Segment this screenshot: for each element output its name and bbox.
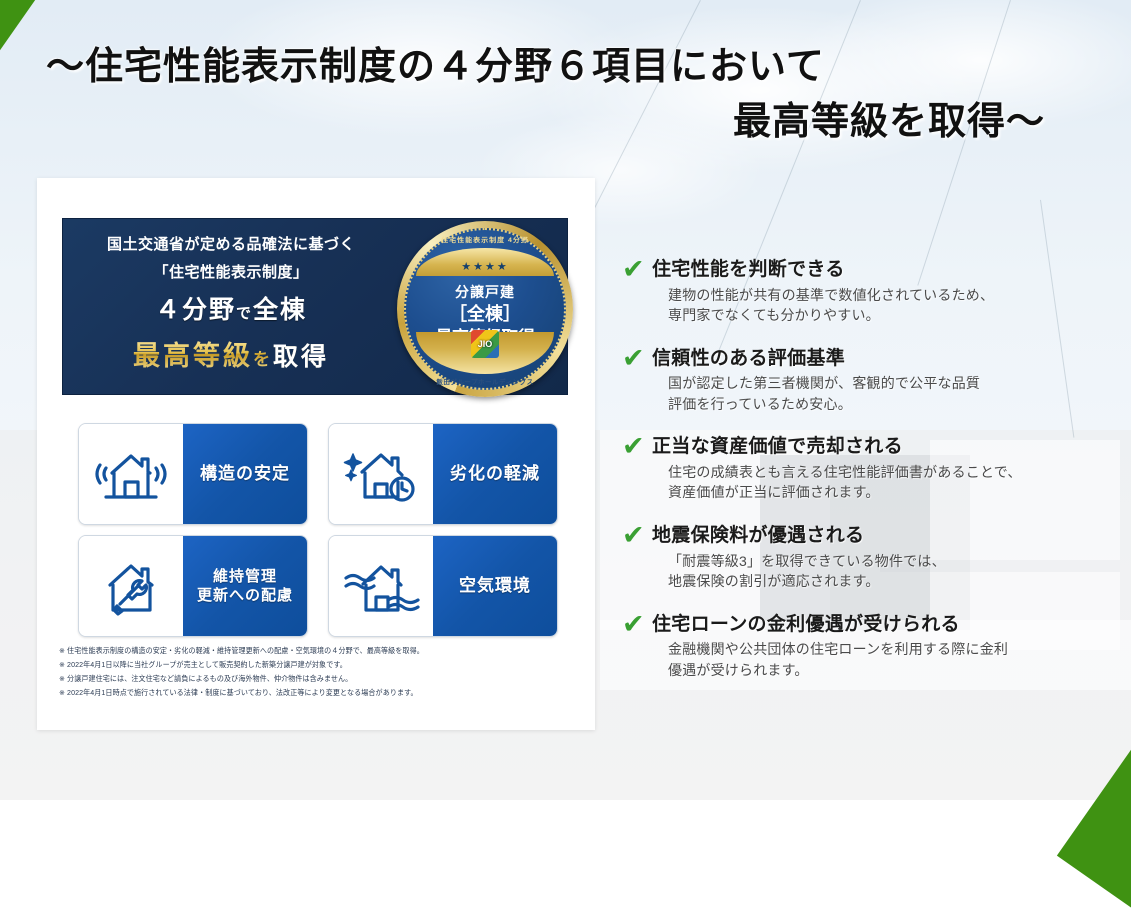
feature-label-air-environment: 空気環境 (433, 536, 557, 636)
title-line-1: 〜住宅性能表示制度の４分野６項目において (0, 42, 1100, 93)
seal-arc-top-text: 住宅性能表示制度 4分野 (406, 236, 564, 245)
feature-box-row-1: 構造の安定 劣化の軽減 (78, 423, 558, 525)
seal-top-gold-band: ★★★★ (416, 248, 554, 276)
benefit-desc-5-line-1: 金融機関や公共団体の住宅ローンを利用する際に金利 (668, 639, 1122, 659)
title-line-2: 最高等級を取得〜 (0, 97, 1100, 148)
banner-line-3-a: ４分野 (155, 296, 236, 324)
seal-line-1: 分譲戸建 (406, 282, 564, 302)
footnote-4: ※ 2022年4月1日時点で施行されている法律・制度に基づいており、法改正等によ… (59, 686, 569, 700)
benefit-desc-1-line-1: 建物の性能が共有の基準で数値化されているため、 (668, 285, 1122, 305)
feature-box-row-2: 維持管理 更新への配慮 空気環境 (78, 535, 558, 637)
feature-box-deterioration-reduction[interactable]: 劣化の軽減 (328, 423, 558, 525)
feature-label-structural-stability: 構造の安定 (183, 424, 307, 524)
seal-stars-icon: ★★★★ (461, 260, 508, 273)
feature-label-maintenance: 維持管理 更新への配慮 (183, 536, 307, 636)
benefit-desc-4: 「耐震等級3」を取得できている物件では、 地震保険の割引が適応されます。 (668, 551, 1122, 592)
feature-label-deterioration-reduction: 劣化の軽減 (433, 424, 557, 524)
banner-line-3-c: 全棟 (253, 296, 307, 324)
banner-line-3-b: で (236, 305, 253, 322)
benefit-title-2: 信頼性のある評価基準 (652, 347, 1122, 371)
feature-box-air-environment[interactable]: 空気環境 (328, 535, 558, 637)
seal-arc-bottom-text: 飯田グループホールディングス (406, 376, 564, 386)
benefit-desc-5-line-2: 優遇が受けられます。 (668, 660, 1122, 680)
footnote-1: ※ 住宅性能表示制度の構造の安定・劣化の軽減・維持管理更新への配慮・空気環境の４… (59, 644, 569, 658)
benefit-title-4: 地震保険料が優遇される (652, 524, 1122, 548)
benefits-list: ✔ 住宅性能を判断できる 建物の性能が共有の基準で数値化されているため、 専門家… (622, 258, 1122, 701)
banner-line-3: ４分野で全棟 (71, 290, 391, 326)
benefit-desc-3: 住宅の成績表とも言える住宅性能評価書があることで、 資産価値が正当に評価されます… (668, 462, 1122, 503)
benefit-desc-3-line-1: 住宅の成績表とも言える住宅性能評価書があることで、 (668, 462, 1122, 482)
benefit-desc-2: 国が認定した第三者機関が、客観的で公平な品質 評価を行っているため安心。 (668, 373, 1122, 414)
check-icon: ✔ (622, 345, 648, 371)
benefit-desc-4-line-1: 「耐震等級3」を取得できている物件では、 (668, 551, 1122, 571)
banner-line-4-a: 最高等級 (133, 341, 253, 371)
gold-seal-badge: 住宅性能表示制度 4分野 ★★★★ 分譲戸建 ［全棟］ 最高等級取得 JIO 飯… (397, 221, 573, 397)
banner-line-4-b: を (253, 350, 273, 369)
footnotes: ※ 住宅性能表示制度の構造の安定・劣化の軽減・維持管理更新への配慮・空気環境の４… (59, 644, 579, 700)
banner-line-4: 最高等級を取得 (71, 334, 391, 373)
check-icon: ✔ (622, 256, 648, 282)
page-title: 〜住宅性能表示制度の４分野６項目において 最高等級を取得〜 (0, 42, 1100, 149)
benefit-desc-1: 建物の性能が共有の基準で数値化されているため、 専門家でなくても分かりやすい。 (668, 285, 1122, 326)
navy-banner-text: 国土交通省が定める品確法に基づく 「住宅性能表示制度」 ４分野で全棟 最高等級を… (71, 233, 391, 373)
seal-inner: 住宅性能表示制度 4分野 ★★★★ 分譲戸建 ［全棟］ 最高等級取得 JIO 飯… (404, 228, 566, 390)
feature-box-maintenance[interactable]: 維持管理 更新への配慮 (78, 535, 308, 637)
house-tools-icon (79, 536, 183, 636)
certification-card: 国土交通省が定める品確法に基づく 「住宅性能表示制度」 ４分野で全棟 最高等級を… (37, 178, 595, 730)
jio-logo-icon: JIO (471, 330, 499, 358)
benefit-desc-4-line-2: 地震保険の割引が適応されます。 (668, 571, 1122, 591)
banner-line-1: 国土交通省が定める品確法に基づく (71, 233, 391, 254)
feature-label-maintenance-text: 維持管理 更新への配慮 (197, 567, 293, 605)
banner-line-2: 「住宅性能表示制度」 (71, 261, 391, 282)
benefit-title-1: 住宅性能を判断できる (652, 258, 1122, 282)
benefit-title-5: 住宅ローンの金利優遇が受けられる (652, 613, 1122, 637)
benefit-title-3: 正当な資産価値で売却される (652, 435, 1122, 459)
benefit-desc-2-line-1: 国が認定した第三者機関が、客観的で公平な品質 (668, 373, 1122, 393)
house-sparkle-clock-icon (329, 424, 433, 524)
benefit-item-1: ✔ 住宅性能を判断できる 建物の性能が共有の基準で数値化されているため、 専門家… (622, 258, 1122, 326)
check-icon: ✔ (622, 611, 648, 637)
benefit-item-4: ✔ 地震保険料が優遇される 「耐震等級3」を取得できている物件では、 地震保険の… (622, 524, 1122, 592)
navy-banner: 国土交通省が定める品確法に基づく 「住宅性能表示制度」 ４分野で全棟 最高等級を… (62, 218, 568, 395)
benefit-desc-1-line-2: 専門家でなくても分かりやすい。 (668, 305, 1122, 325)
footnote-3: ※ 分譲戸建住宅には、注文住宅など請負によるもの及び海外物件、仲介物件は含みませ… (59, 672, 569, 686)
banner-line-4-c: 取得 (273, 343, 329, 371)
check-icon: ✔ (622, 522, 648, 548)
benefit-item-2: ✔ 信頼性のある評価基準 国が認定した第三者機関が、客観的で公平な品質 評価を行… (622, 347, 1122, 415)
house-airflow-icon (329, 536, 433, 636)
benefit-desc-5: 金融機関や公共団体の住宅ローンを利用する際に金利 優遇が受けられます。 (668, 639, 1122, 680)
benefit-item-3: ✔ 正当な資産価値で売却される 住宅の成績表とも言える住宅性能評価書があることで… (622, 435, 1122, 503)
benefit-item-5: ✔ 住宅ローンの金利優遇が受けられる 金融機関や公共団体の住宅ローンを利用する際… (622, 613, 1122, 681)
house-vibration-icon (79, 424, 183, 524)
footnote-2: ※ 2022年4月1日以降に当社グループが売主として販売契約した新築分譲戸建が対… (59, 658, 569, 672)
check-icon: ✔ (622, 433, 648, 459)
feature-boxes: 構造の安定 劣化の軽減 (78, 423, 558, 647)
benefit-desc-2-line-2: 評価を行っているため安心。 (668, 394, 1122, 414)
feature-box-structural-stability[interactable]: 構造の安定 (78, 423, 308, 525)
benefit-desc-3-line-2: 資産価値が正当に評価されます。 (668, 482, 1122, 502)
